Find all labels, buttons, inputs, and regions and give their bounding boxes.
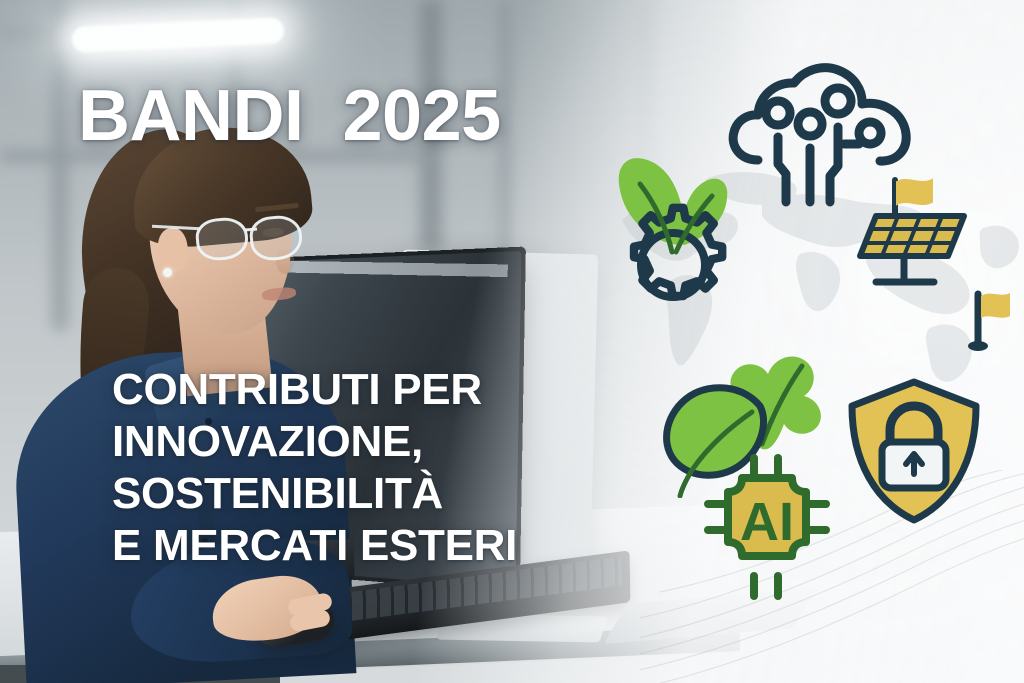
poster-banner: AI BANDI 2025 CONTRIBUTI PER INNOVAZIONE…	[0, 0, 1024, 683]
ai-chip-label: AI	[740, 492, 794, 552]
ai-chip-icon: AI	[702, 452, 848, 602]
poster-title: BANDI 2025	[78, 80, 501, 152]
subtitle-line-4: E MERCATI ESTERI	[112, 524, 517, 568]
flag-icon	[962, 286, 1018, 356]
poster-subtitle: CONTRIBUTI PER INNOVAZIONE, SOSTENIBILIT…	[112, 368, 517, 576]
subtitle-line-3: SOSTENIBILITÀ	[112, 472, 517, 516]
subtitle-line-1: CONTRIBUTI PER	[112, 368, 517, 412]
gear-plant-icon	[592, 152, 754, 344]
subtitle-line-2: INNOVAZIONE,	[112, 420, 517, 464]
shield-lock-icon	[834, 372, 994, 530]
